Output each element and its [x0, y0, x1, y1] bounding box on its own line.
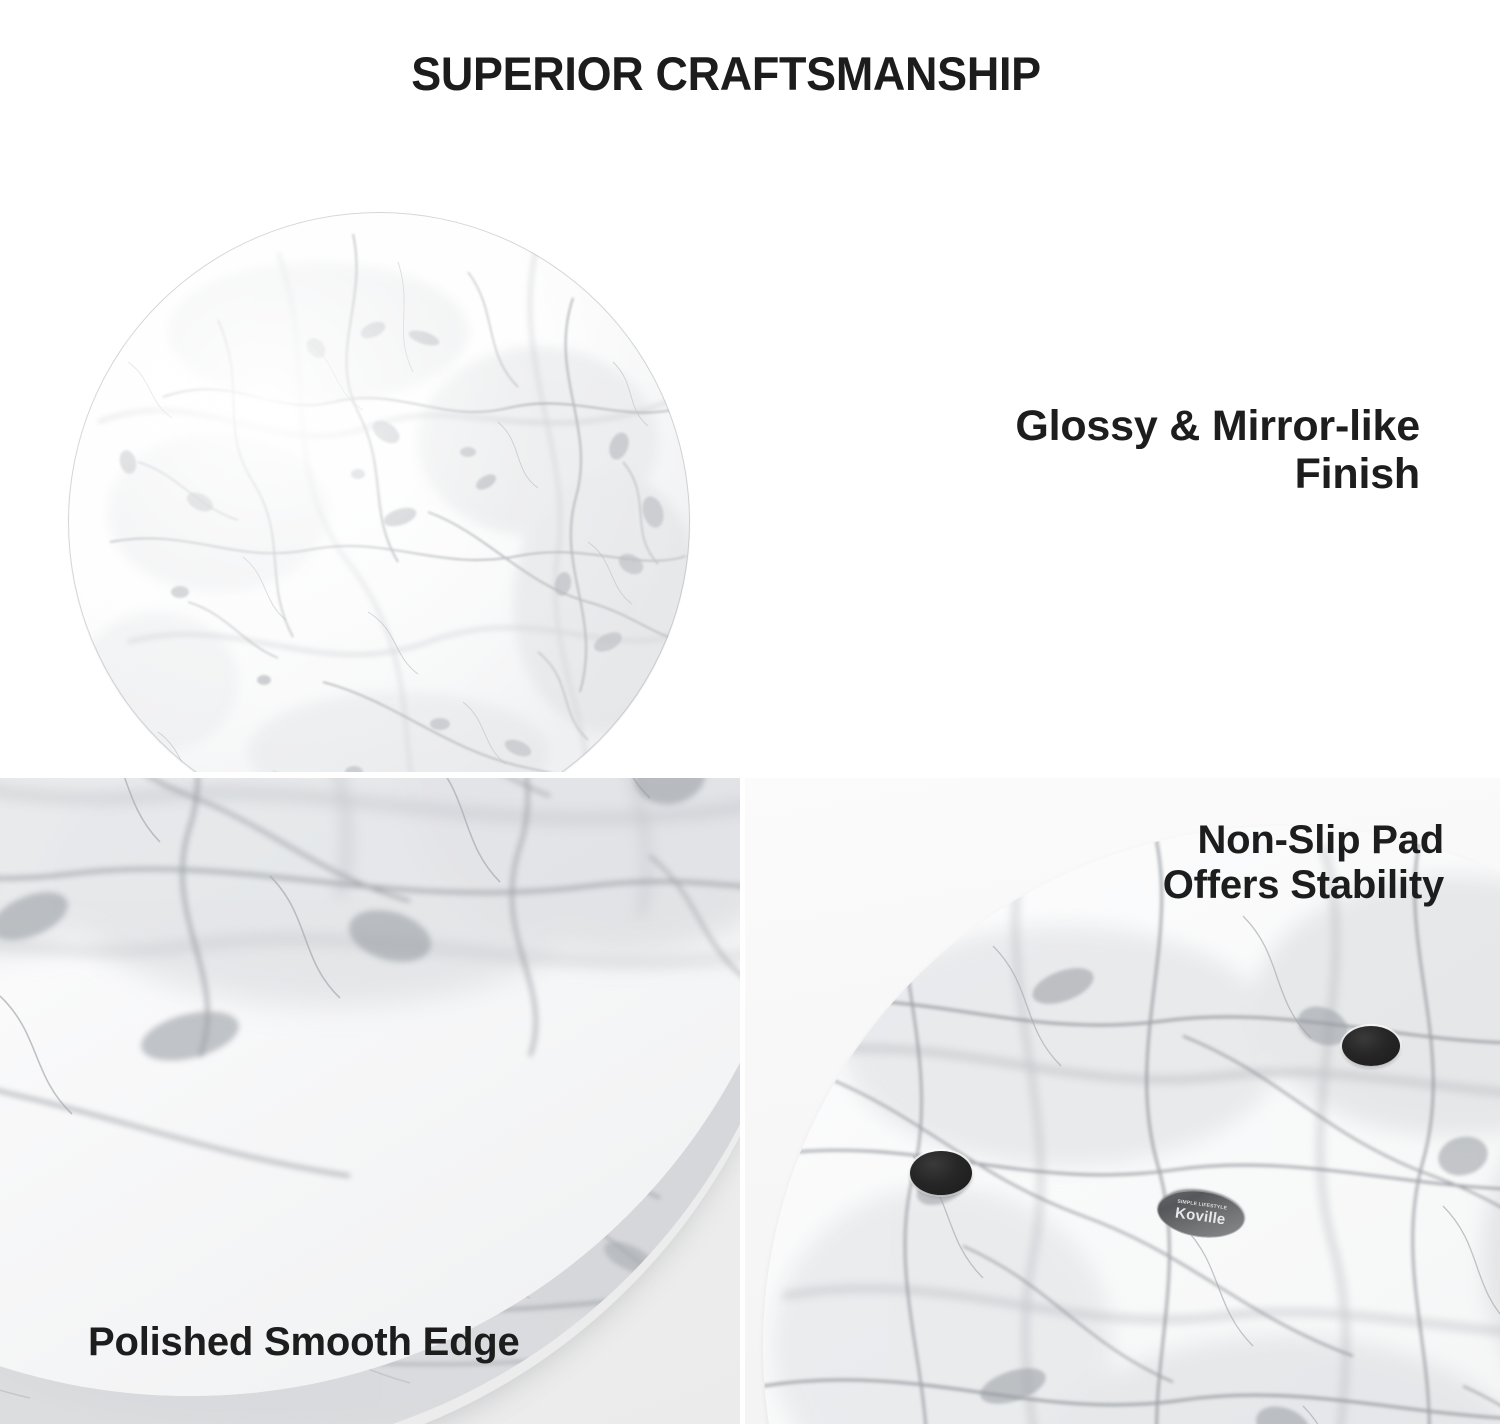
marble-slab-top-surface [0, 778, 740, 1396]
non-slip-pad [910, 1151, 972, 1195]
page-title-line-1: SUPERIOR CRAFTSMANSHIP [33, 50, 1420, 98]
marble-texture-top [68, 212, 690, 773]
panel-divider-horizontal [0, 772, 1500, 778]
caption-non-slip-pad: Non-Slip Pad Offers Stability [1020, 818, 1444, 908]
product-infographic: SUPERIOR CRAFTSMANSHIP EXQUISITE DETAILS [0, 0, 1500, 1424]
marble-disc-underside [763, 826, 1500, 1424]
panel-divider-vertical [740, 108, 745, 1424]
caption-glossy-mirror-finish: Glossy & Mirror-like Finish [900, 402, 1420, 498]
non-slip-pad [1342, 1026, 1400, 1066]
marble-board-top-view [68, 212, 690, 773]
marble-texture-underside [763, 826, 1500, 1424]
caption-polished-smooth-edge: Polished Smooth Edge [88, 1320, 708, 1365]
marble-texture-macro-top [0, 778, 740, 1396]
panel-round-marble-board-top-view [0, 108, 740, 773]
